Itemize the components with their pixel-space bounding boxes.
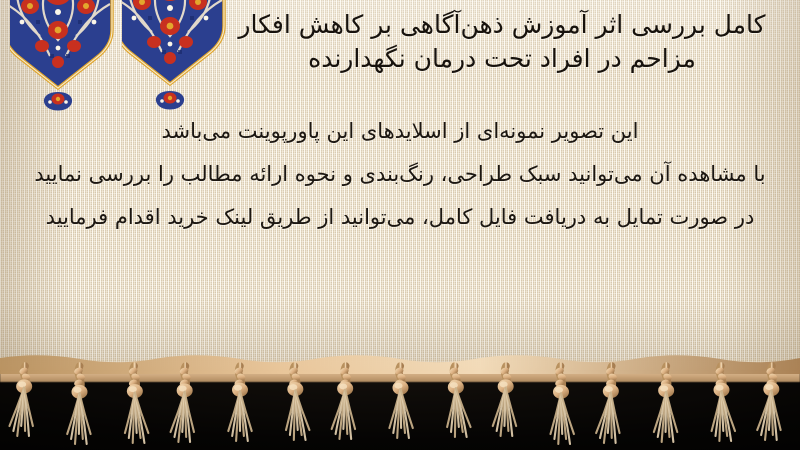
body-line-1: این تصویر نمونه‌ای از اسلایدهای این پاور…	[0, 110, 800, 153]
body-line-3: در صورت تمایل به دریافت فایل کامل، می‌تو…	[0, 196, 800, 239]
black-band	[0, 370, 800, 450]
slide-body: این تصویر نمونه‌ای از اسلایدهای این پاور…	[0, 110, 800, 239]
body-line-2: با مشاهده آن می‌توانید سبک طراحی، رنگ‌بن…	[0, 153, 800, 196]
slide-title: کامل بررسی اثر آموزش ذهن‌آگاهی بر کاهش ا…	[222, 8, 782, 76]
carpet-edge-binding	[0, 358, 800, 382]
carpet-medallion-icon	[122, 0, 230, 116]
title-line-1: کامل بررسی اثر آموزش ذهن‌آگاهی بر کاهش ا…	[222, 8, 782, 42]
slide-canvas: کامل بررسی اثر آموزش ذهن‌آگاهی بر کاهش ا…	[0, 0, 800, 450]
title-line-2: مزاحم در افراد تحت درمان نگهدارنده	[222, 42, 782, 76]
carpet-medallion-icon	[10, 0, 118, 116]
